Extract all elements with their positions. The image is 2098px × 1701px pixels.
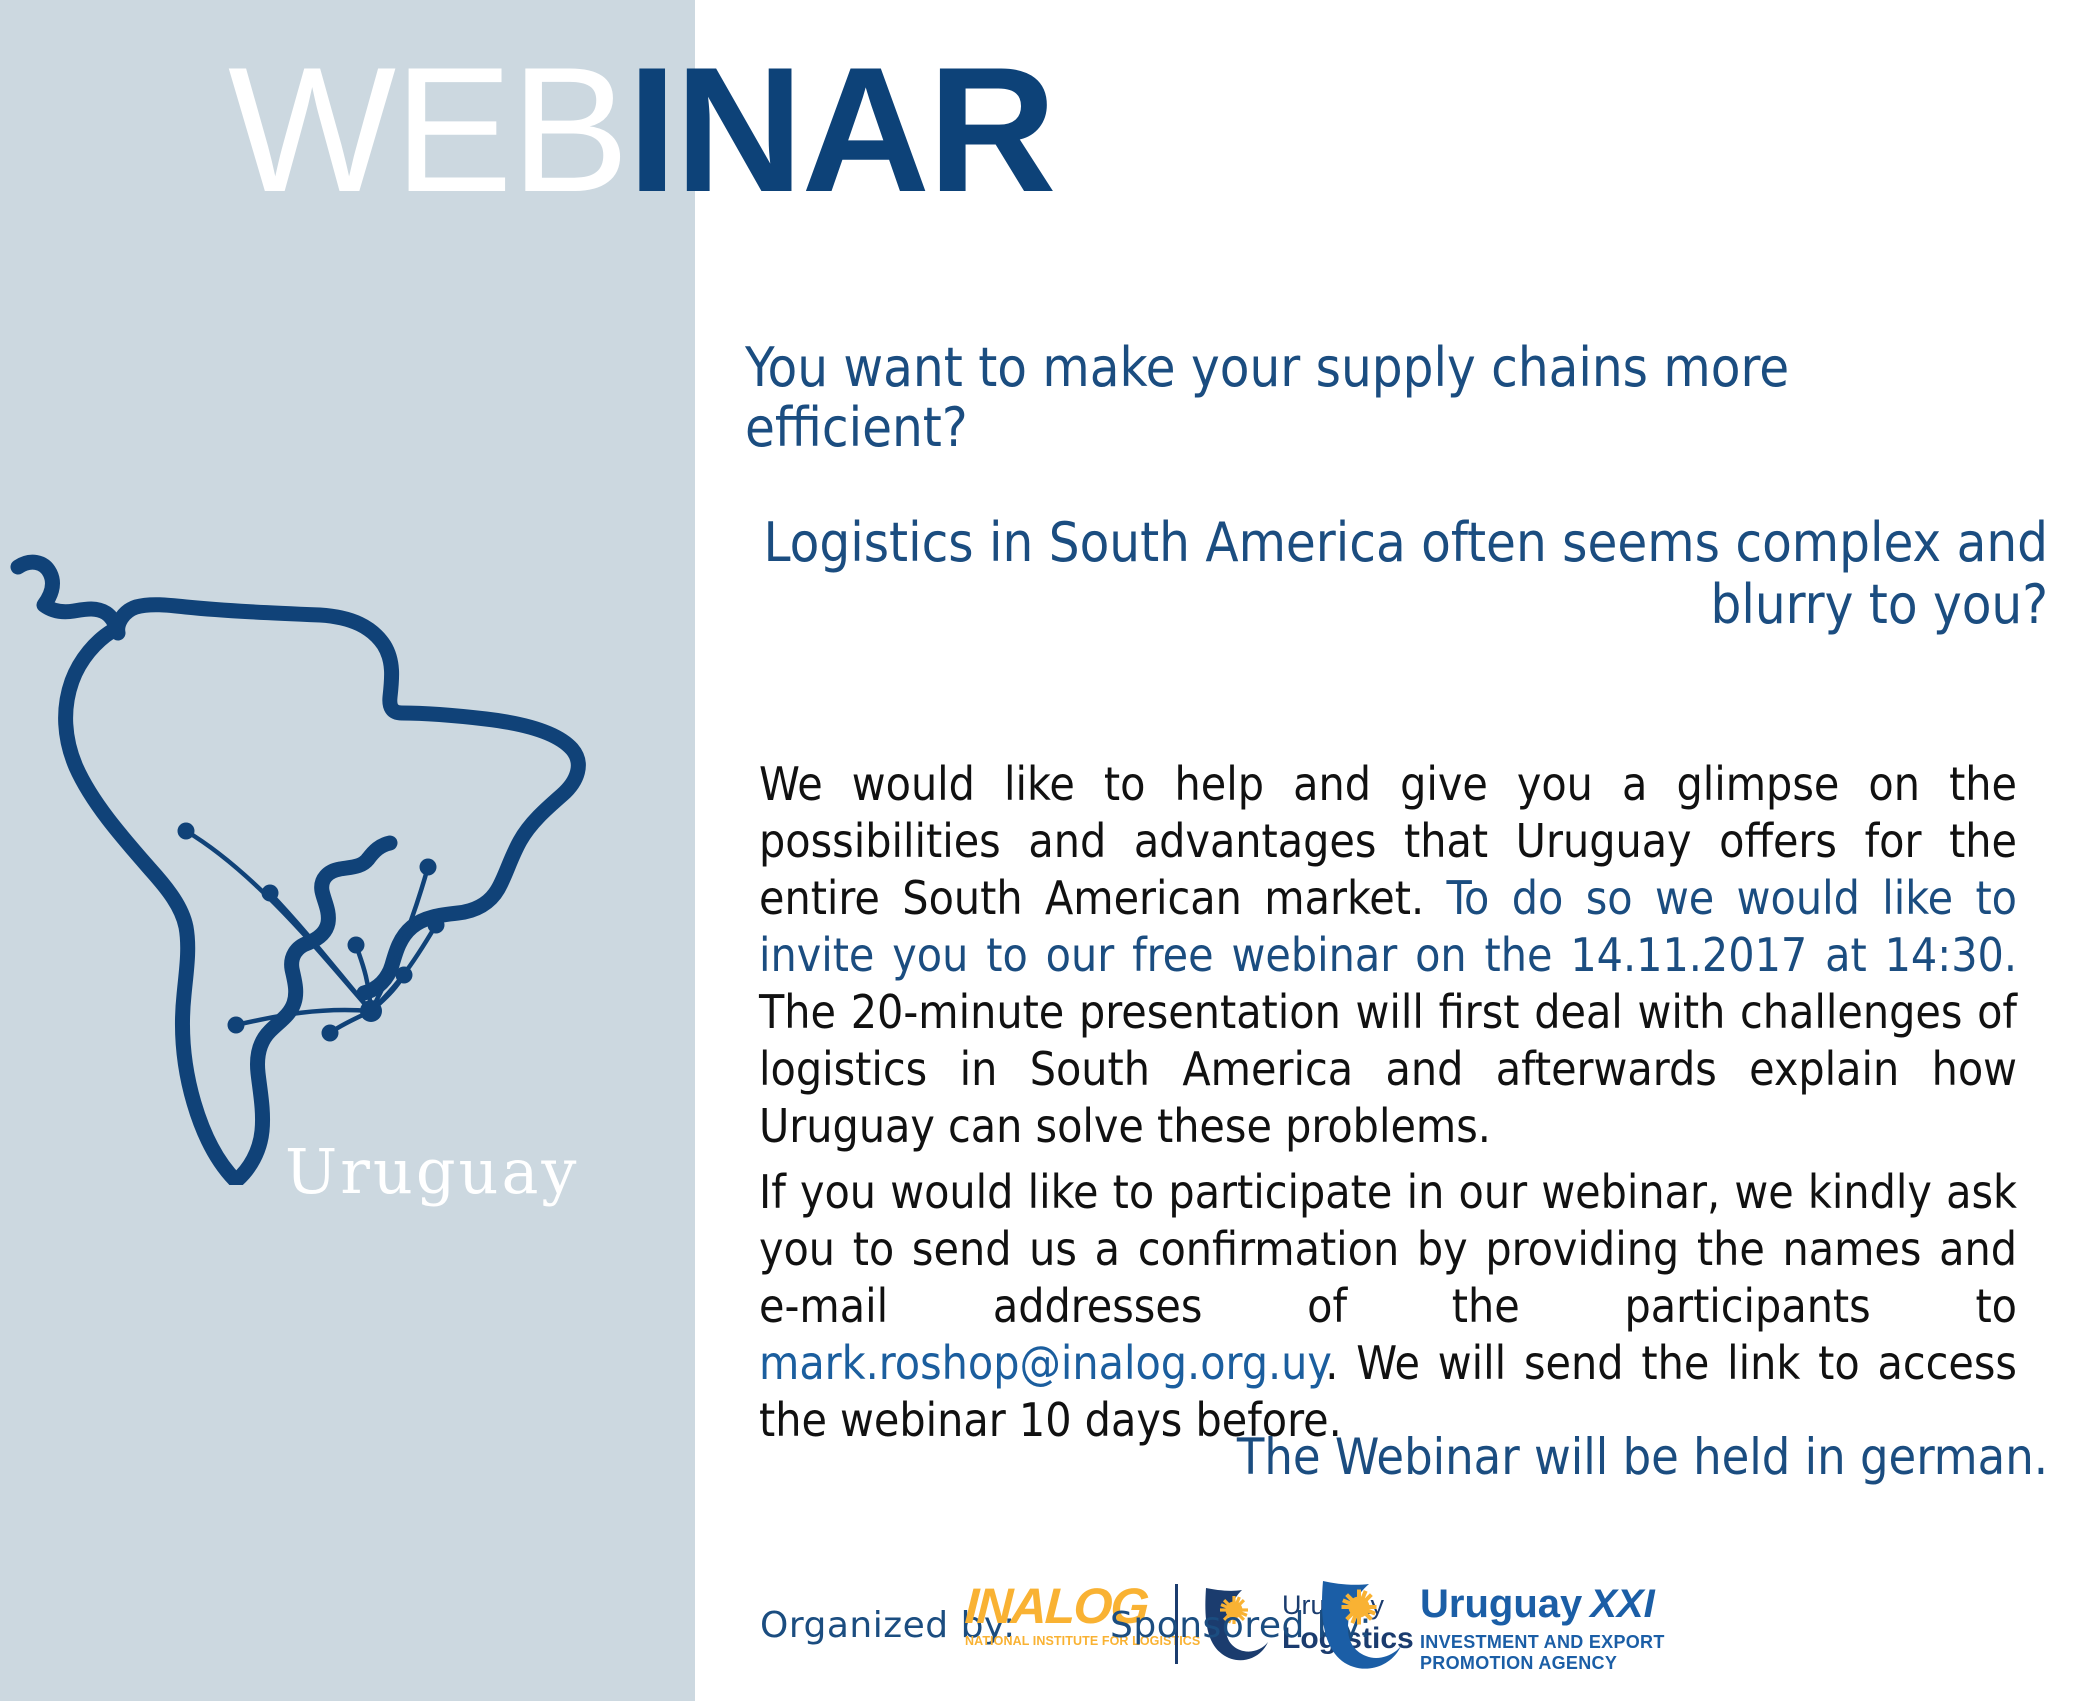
contact-email-link[interactable]: mark.roshop@inalog.org.uy [759, 1336, 1325, 1390]
par1-segment-3: The 20-minute presentation will first de… [759, 985, 2017, 1153]
headline-secondary: Logistics in South America often seems c… [743, 512, 2048, 636]
body-paragraph-2: If you would like to participate in our … [759, 1164, 2017, 1449]
uruguay-xxi-tagline-1: INVESTMENT AND EXPORT [1420, 1633, 1665, 1651]
uruguay-xxi-wordmark: UruguayXXI INVESTMENT AND EXPORT PROMOTI… [1420, 1584, 1665, 1672]
language-note: The Webinar will be held in german. [743, 1428, 2048, 1486]
footer-credits: Organized by: INALOG NATIONAL INSTITUTE … [695, 1570, 2098, 1685]
headline-primary: You want to make your supply chains more… [745, 338, 1945, 458]
uruguay-xxi-tagline-2: PROMOTION AGENCY [1420, 1654, 1665, 1672]
uruguay-xxi-name: UruguayXXI [1420, 1584, 1665, 1624]
content-column: You want to make your supply chains more… [695, 0, 2098, 1701]
uruguay-xxi-name-text: Uruguay [1420, 1582, 1582, 1626]
map-region-label: Uruguay [285, 1135, 579, 1208]
title-part-web: WEB [228, 30, 627, 229]
south-america-map-icon [0, 545, 700, 1185]
par2-segment-1: If you would like to participate in our … [759, 1165, 2017, 1333]
uruguay-xxi-sun-crescent-icon [1315, 1576, 1407, 1674]
body-paragraph-1: We would like to help and give you a gli… [759, 756, 2017, 1155]
uruguay-xxi-numerals: XXI [1590, 1582, 1654, 1626]
uruguay-xxi-logo: UruguayXXI INVESTMENT AND EXPORT PROMOTI… [1315, 1576, 1785, 1676]
